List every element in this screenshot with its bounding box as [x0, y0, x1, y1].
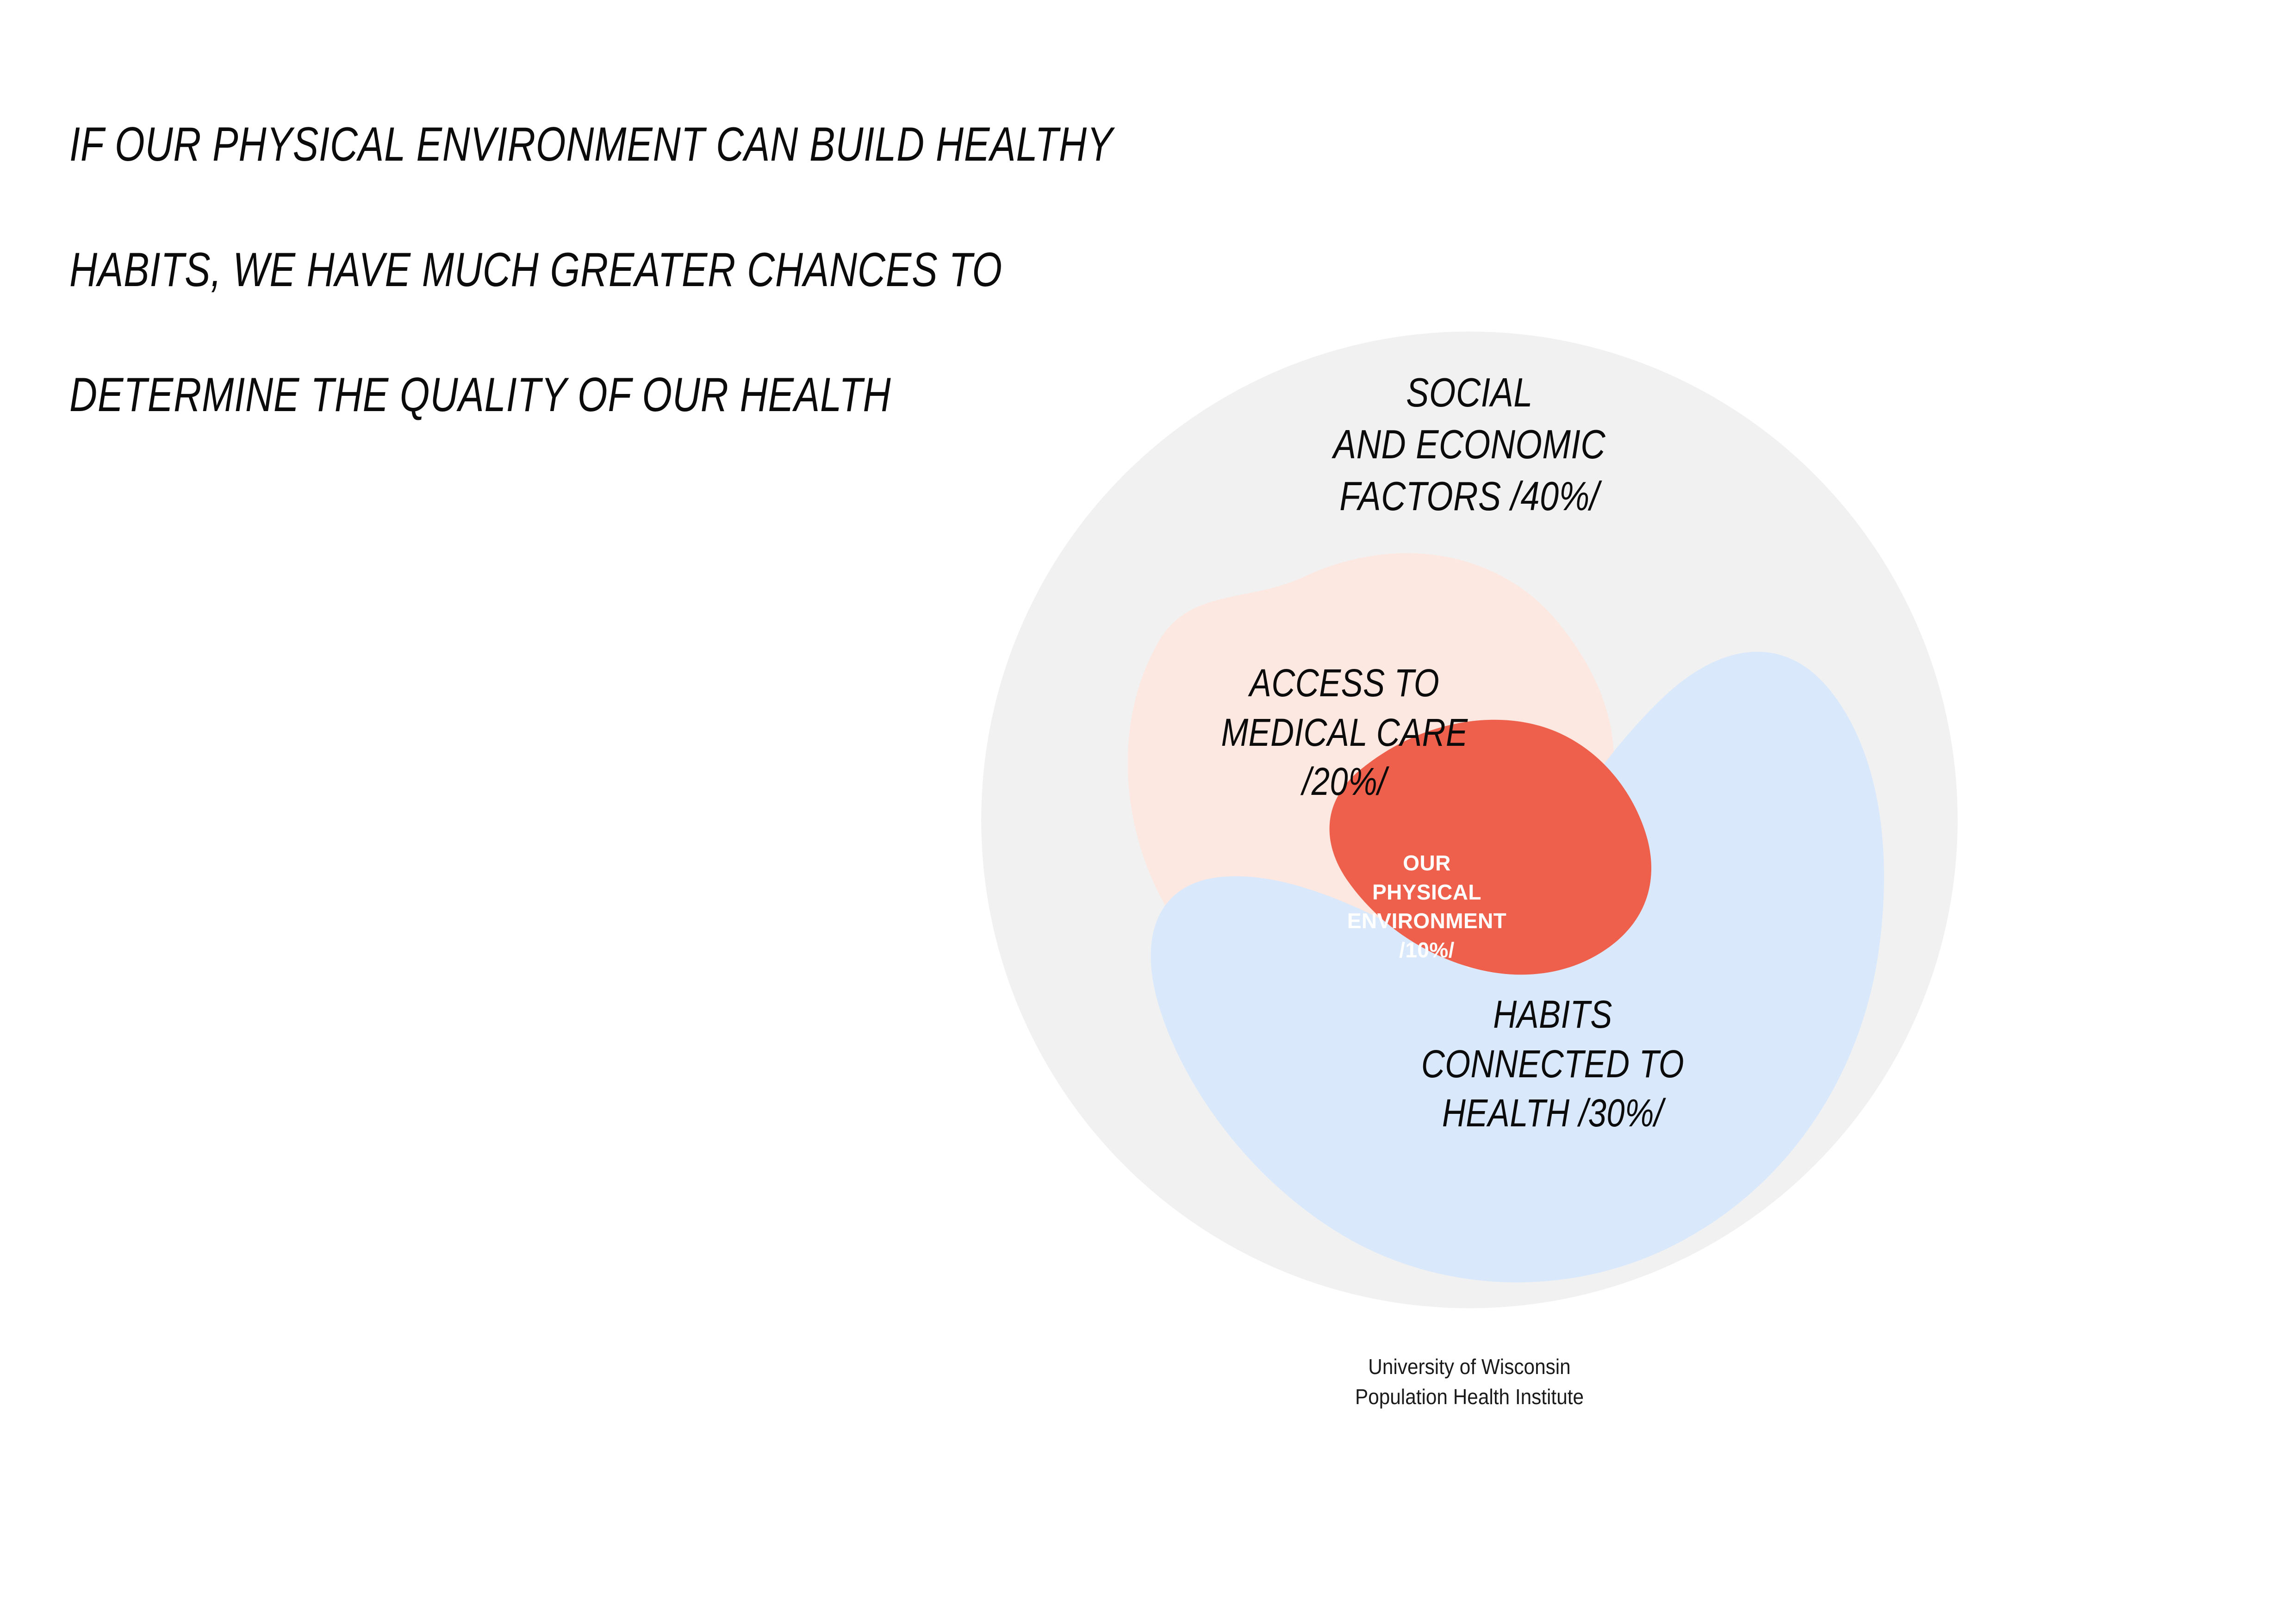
- source-attribution: University of Wisconsin Population Healt…: [1248, 1352, 1691, 1412]
- label-access-medical-care: ACCESS TO MEDICAL CARE /20%/: [1148, 658, 1541, 806]
- label-our-physical-environment: OUR PHYSICAL ENVIRONMENT /10%/: [1318, 849, 1536, 964]
- label-social-economic-factors: SOCIAL AND ECONOMIC FACTORS /40%/: [1250, 367, 1689, 522]
- headline-line-2: HABITS, WE HAVE MUCH GREATER CHANCES TO: [69, 239, 1180, 301]
- label-habits-connected-health: HABITS CONNECTED TO HEALTH /30%/: [1349, 990, 1757, 1138]
- headline-line-1: IF OUR PHYSICAL ENVIRONMENT CAN BUILD HE…: [69, 113, 1180, 176]
